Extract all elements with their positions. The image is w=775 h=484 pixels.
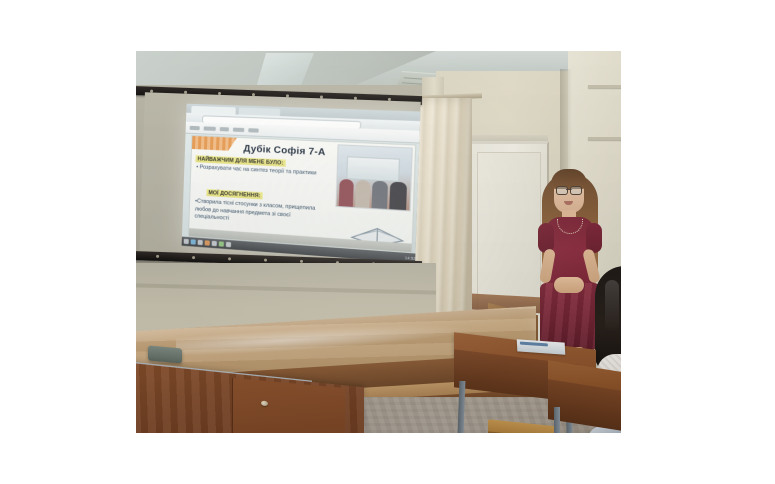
slide-body-2: •Створила тісні стосунки з класом, прище… xyxy=(194,198,319,229)
wall-shelf-rail xyxy=(588,85,621,88)
presenter-hands xyxy=(554,277,584,293)
projector-screen: Дубік Софія 7-А НАЙВАЖЧИМ ДЛЯ МЕНЕ БУЛО:… xyxy=(139,92,421,266)
media-taskbar-icon[interactable] xyxy=(219,241,224,246)
app-taskbar-icon[interactable] xyxy=(226,242,231,247)
foreground-desk-panel xyxy=(232,378,345,433)
projector-unit xyxy=(148,346,182,364)
wall-shelf-rail xyxy=(588,137,621,140)
presenter-sleeve-left xyxy=(538,223,554,253)
slide-canvas: Дубік Софія 7-А НАЙВАЖЧИМ ДЛЯ МЕНЕ БУЛО:… xyxy=(188,135,416,253)
slide-body-1: • Розрахувати час на синтез теорії та пр… xyxy=(196,164,320,178)
browser-taskbar-icon[interactable] xyxy=(191,239,196,244)
photo-whiteboard xyxy=(346,156,400,182)
projected-slide-area: Дубік Софія 7-А НАЙВАЖЧИМ ДЛЯ МЕНЕ БУЛО:… xyxy=(182,104,421,264)
photo-person xyxy=(372,181,388,209)
student-hair-highlight xyxy=(605,280,619,332)
mail-taskbar-icon[interactable] xyxy=(212,241,217,246)
explorer-taskbar-icon[interactable] xyxy=(198,240,203,245)
classroom-photograph: Дубік Софія 7-А НАЙВАЖЧИМ ДЛЯ МЕНЕ БУЛО:… xyxy=(136,51,621,433)
slide-classroom-photo xyxy=(335,144,412,211)
presenter-glasses xyxy=(556,186,582,193)
start-icon[interactable] xyxy=(184,239,189,244)
slide-heading-2: МОЇ ДОСЯГНЕННЯ: xyxy=(206,189,262,199)
photo-person xyxy=(389,182,407,211)
desk-knob[interactable] xyxy=(261,401,268,407)
photo-person xyxy=(355,180,370,208)
photo-person xyxy=(339,179,354,207)
right-desk-back-leg xyxy=(554,407,560,433)
presentation-taskbar-icon[interactable] xyxy=(205,240,210,245)
